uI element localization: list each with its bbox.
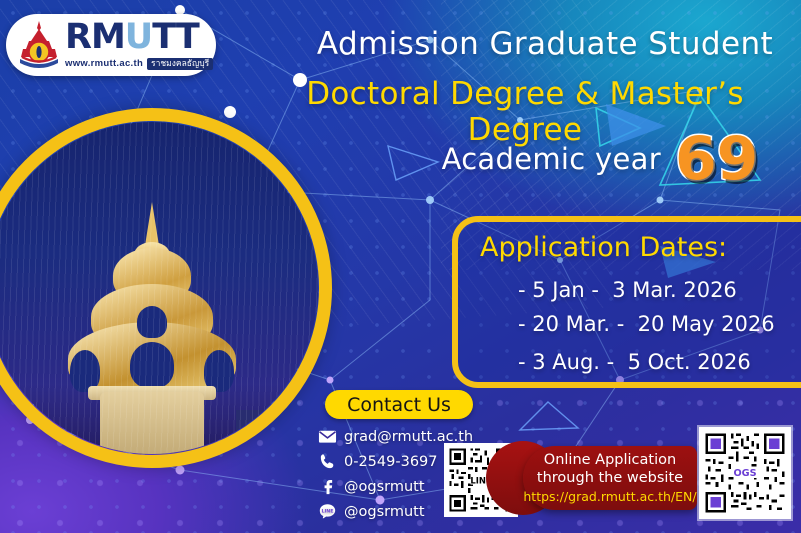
date-range-2: - 20 Mar. - 20 May 2026 [518,312,775,336]
line-icon: LINE [318,502,337,521]
monument-medallion [0,108,332,468]
brand-url: www.rmutt.ac.th [65,59,143,69]
academic-year-value: 69 [675,132,759,186]
svg-text:LINE: LINE [321,508,333,514]
brand-wordmark: RMUTT [65,20,213,55]
contact-facebook-row[interactable]: @ogsrmutt [318,477,425,496]
online-url[interactable]: https://grad.rmutt.ac.th/EN/ [523,489,696,504]
academic-year-label: Academic year [442,142,661,176]
poster-title-line1: Admission Graduate Student [300,26,790,62]
online-line2: through the website [537,470,683,487]
contact-facebook-value: @ogsrmutt [344,479,425,495]
date-range-3: - 3 Aug. - 5 Oct. 2026 [518,350,751,374]
admission-poster: RMUTT www.rmutt.ac.th ราชมงคลธัญบุรี [0,0,801,533]
date-range-1: - 5 Jan - 3 Mar. 2026 [518,278,737,302]
contact-us-heading: Contact Us [325,390,473,419]
phone-icon [318,452,337,471]
online-line1: Online Application [544,452,676,469]
brand-thai-badge: ราชมงคลธัญบุรี [147,58,213,70]
academic-year-row: Academic year 69 [420,132,780,186]
email-icon [318,427,337,446]
rmutt-logo: RMUTT www.rmutt.ac.th ราชมงคลธัญบุรี [6,14,216,76]
contact-phone-value: 0-2549-3697 [344,454,438,470]
contact-line-row[interactable]: LINE @ogsrmutt [318,502,425,521]
facebook-icon [318,477,337,496]
application-dates-title: Application Dates: [480,232,727,263]
application-dates-panel: Application Dates: - 5 Jan - 3 Mar. 2026… [452,216,801,388]
rmutt-royal-emblem-icon [16,19,62,71]
online-application-banner[interactable]: Online Application through the website h… [523,446,697,510]
svg-text:OGS: OGS [733,468,756,479]
contact-phone-row[interactable]: 0-2549-3697 [318,452,438,471]
contact-line-value: @ogsrmutt [344,504,425,520]
application-qr-code[interactable]: OGS [699,427,791,519]
